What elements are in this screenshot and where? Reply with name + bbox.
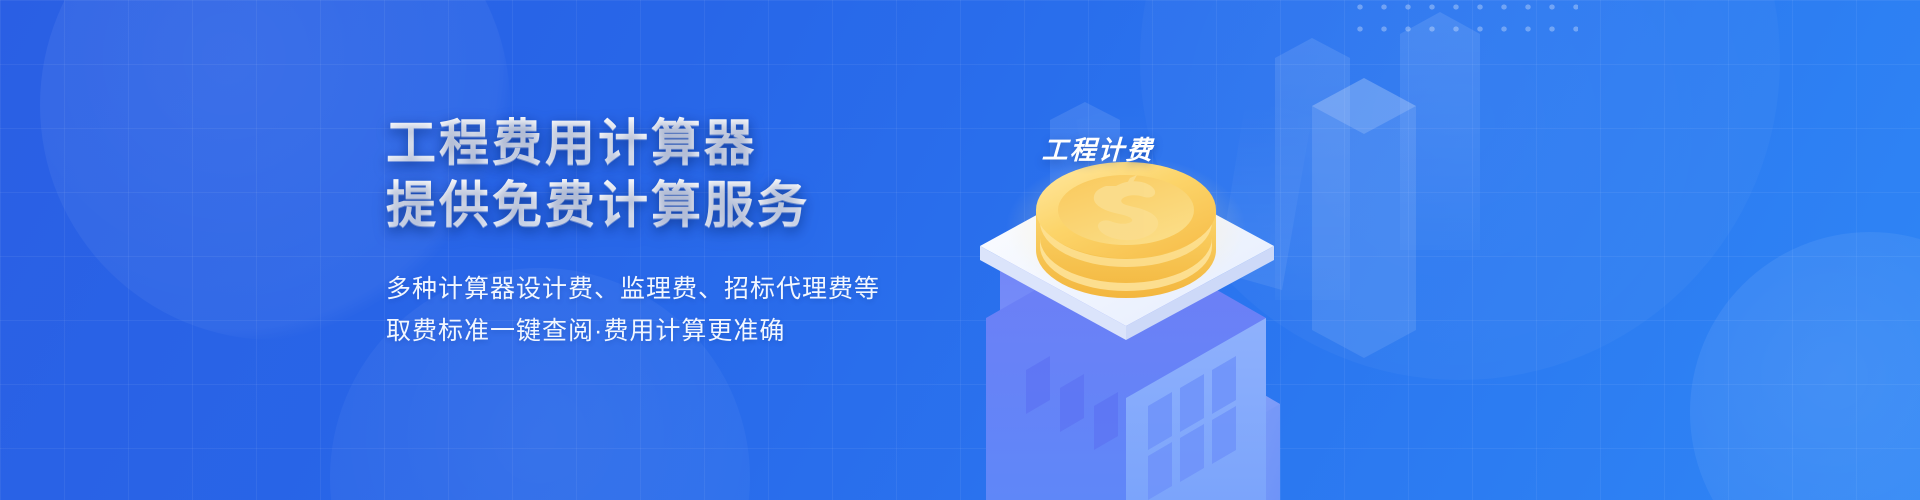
headline-line-2: 提供免费计算服务 [386, 174, 1006, 236]
coin-stack [1006, 156, 1246, 300]
subtitle-line-2: 取费标准一键查阅·费用计算更准确 [386, 310, 1006, 352]
headline-line-1: 工程费用计算器 [386, 112, 1006, 174]
subtitle-line-1: 多种计算器设计费、监理费、招标代理费等 [386, 268, 1006, 310]
isometric-bar-tall [1312, 78, 1416, 358]
illustration-badge-label: 工程计费 [1041, 130, 1154, 167]
banner-text-block: 工程费用计算器 提供免费计算服务 多种计算器设计费、监理费、招标代理费等 取费标… [386, 112, 1006, 352]
promo-banner: 工程计费 工程费用计算器 提供免费计算服务 多种计算器设计费、监理费、招标代理费… [0, 0, 1920, 500]
illustration-group [880, 0, 1920, 500]
